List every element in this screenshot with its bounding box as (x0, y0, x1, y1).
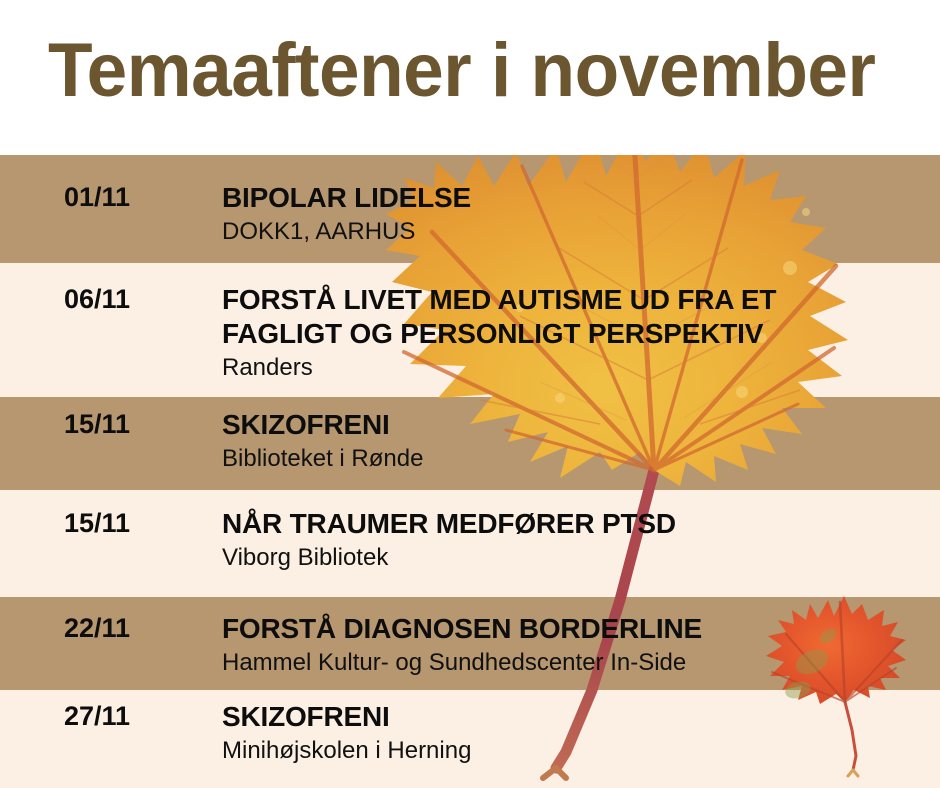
event-title: BIPOLAR LIDELSE (222, 181, 922, 215)
event-date: 15/11 (64, 408, 130, 440)
event-body: SKIZOFRENI Minihøjskolen i Herning (222, 700, 922, 766)
event-date: 27/11 (64, 700, 130, 732)
event-title: SKIZOFRENI (222, 408, 922, 442)
event-title: NÅR TRAUMER MEDFØRER PTSD (222, 507, 922, 541)
event-body: FORSTÅ LIVET MED AUTISME UD FRA ET FAGLI… (222, 283, 922, 383)
page-title: Temaaftener i november (48, 28, 874, 114)
event-venue: Randers (222, 353, 922, 383)
event-title: SKIZOFRENI (222, 700, 922, 734)
event-title-line2: FAGLIGT OG PERSONLIGT PERSPEKTIV (222, 317, 922, 351)
event-title: FORSTÅ LIVET MED AUTISME UD FRA ET (222, 283, 922, 317)
poster-canvas: 01/11 BIPOLAR LIDELSE DOKK1, AARHUS 06/1… (0, 0, 940, 788)
event-date: 22/11 (64, 612, 130, 644)
event-date: 01/11 (64, 181, 130, 213)
event-body: NÅR TRAUMER MEDFØRER PTSD Viborg Bibliot… (222, 507, 922, 573)
event-date: 06/11 (64, 283, 130, 315)
event-venue: Minihøjskolen i Herning (222, 736, 922, 766)
event-venue: Hammel Kultur- og Sundhedscenter In-Side (222, 648, 922, 678)
event-body: SKIZOFRENI Biblioteket i Rønde (222, 408, 922, 474)
event-title: FORSTÅ DIAGNOSEN BORDERLINE (222, 612, 922, 646)
event-date: 15/11 (64, 507, 130, 539)
event-body: FORSTÅ DIAGNOSEN BORDERLINE Hammel Kultu… (222, 612, 922, 678)
event-venue: Biblioteket i Rønde (222, 444, 922, 474)
event-body: BIPOLAR LIDELSE DOKK1, AARHUS (222, 181, 922, 247)
event-venue: Viborg Bibliotek (222, 543, 922, 573)
title-banner: Temaaftener i november (0, 0, 940, 155)
event-venue: DOKK1, AARHUS (222, 217, 922, 247)
